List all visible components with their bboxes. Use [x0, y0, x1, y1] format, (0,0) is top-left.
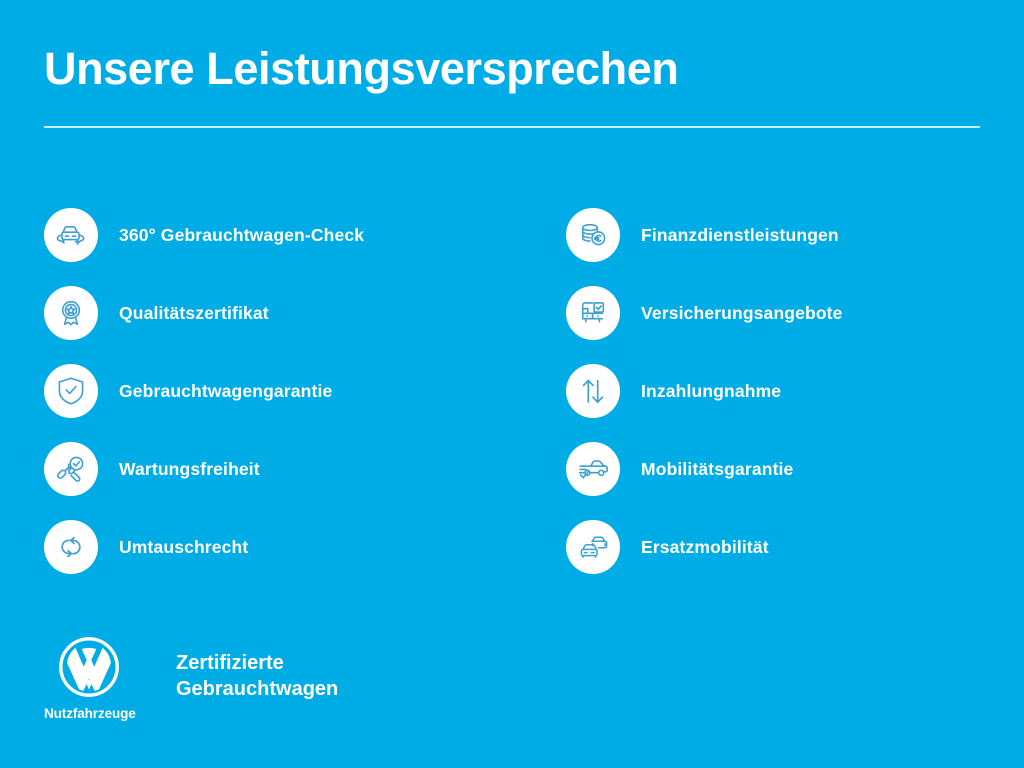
benefit-item-qualitaetszertifikat: Qualitätszertifikat	[44, 274, 566, 352]
brand-claim-line-1: Zertifizierte	[176, 650, 338, 676]
benefit-label: Inzahlungnahme	[641, 381, 781, 402]
car-speed-check-icon	[566, 442, 620, 496]
benefit-item-mobilitaetsgarantie: Mobilitätsgarantie	[566, 430, 984, 508]
brand-block: Nutzfahrzeuge Zertifizierte Gebrauchtwag…	[44, 636, 338, 721]
benefit-item-inzahlungnahme: Inzahlungnahme	[566, 352, 984, 430]
benefit-label: Versicherungsangebote	[641, 303, 843, 324]
slide-canvas: Unsere Leistungsversprechen 360° Gebrauc…	[0, 0, 1024, 768]
coins-euro-icon	[566, 208, 620, 262]
brand-claim-line-2: Gebrauchtwagen	[176, 676, 338, 702]
shield-check-icon	[44, 364, 98, 418]
exchange-arrows-icon	[44, 520, 98, 574]
benefit-label: 360° Gebrauchtwagen-Check	[119, 225, 364, 246]
benefit-item-gebrauchtwagengarantie: Gebrauchtwagengarantie	[44, 352, 566, 430]
car-360-check-icon	[44, 208, 98, 262]
benefit-item-wartungsfreiheit: Wartungsfreiheit	[44, 430, 566, 508]
benefit-item-gebrauchtwagen-check: 360° Gebrauchtwagen-Check	[44, 196, 566, 274]
benefit-item-ersatzmobilitaet: Ersatzmobilität	[566, 508, 984, 586]
benefit-item-finanzdienstleistungen: Finanzdienstleistungen	[566, 196, 984, 274]
benefit-label: Mobilitätsgarantie	[641, 459, 793, 480]
benefit-label: Finanzdienstleistungen	[641, 225, 839, 246]
award-rosette-icon	[44, 286, 98, 340]
arrows-up-down-icon	[566, 364, 620, 418]
wrench-check-icon	[44, 442, 98, 496]
benefits-grid: 360° Gebrauchtwagen-Check Finanzdienstle…	[44, 196, 984, 586]
benefit-item-umtauschrecht: Umtauschrecht	[44, 508, 566, 586]
van-checkbox-icon	[566, 286, 620, 340]
benefit-label: Umtauschrecht	[119, 537, 248, 558]
benefit-label: Ersatzmobilität	[641, 537, 769, 558]
page-title: Unsere Leistungsversprechen	[44, 46, 980, 91]
two-cars-icon	[566, 520, 620, 574]
volkswagen-logo: Nutzfahrzeuge	[44, 636, 150, 721]
brand-subline: Nutzfahrzeuge	[44, 706, 150, 721]
brand-claim: Zertifizierte Gebrauchtwagen	[176, 650, 338, 703]
benefit-label: Gebrauchtwagengarantie	[119, 381, 332, 402]
benefit-item-versicherungsangebote: Versicherungsangebote	[566, 274, 984, 352]
benefit-label: Wartungsfreiheit	[119, 459, 260, 480]
title-divider	[44, 126, 980, 128]
benefit-label: Qualitätszertifikat	[119, 303, 269, 324]
header: Unsere Leistungsversprechen	[44, 46, 980, 128]
